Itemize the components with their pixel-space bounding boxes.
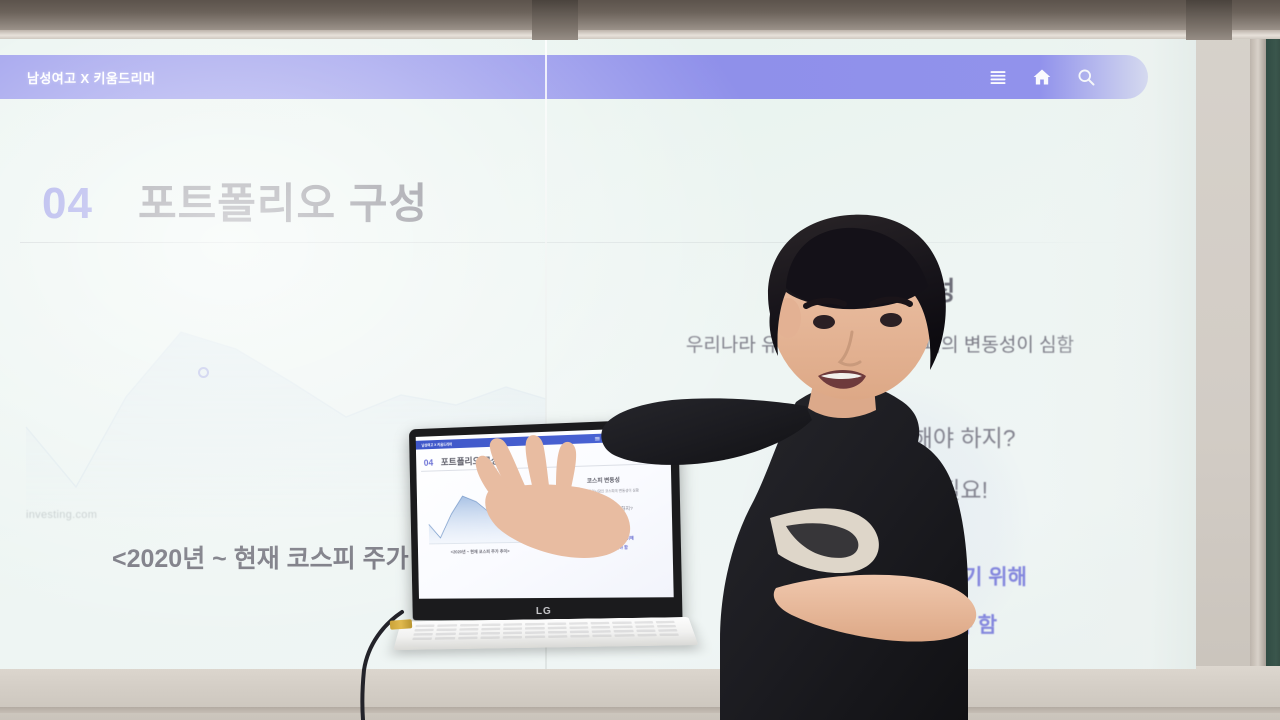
rail-bracket — [1186, 0, 1232, 40]
slide-section-number: 04 — [42, 179, 93, 229]
laptop-power-port — [390, 619, 413, 630]
screenshot-root: 남성여고 X 키움드리머 — [0, 0, 1280, 720]
home-icon[interactable] — [1032, 67, 1052, 87]
chart-marker-dot — [198, 367, 209, 378]
slide-navbar: 남성여고 X 키움드리머 — [0, 55, 1148, 99]
slide-nav-icons — [988, 55, 1096, 99]
ceiling-rail — [0, 0, 1280, 34]
mini-section-number: 04 — [424, 458, 434, 468]
presenter-head — [768, 215, 946, 400]
slide-section-title: 포트폴리오 구성 — [138, 170, 428, 231]
slide-heading: 04 포트폴리오 구성 — [42, 170, 428, 231]
presenter — [600, 210, 1280, 720]
hamburger-menu-icon[interactable] — [988, 67, 1008, 87]
mini-brand-label: 남성여고 X 키움드리머 — [421, 441, 452, 447]
chart-source-watermark: investing.com — [26, 509, 97, 521]
rail-bracket — [532, 0, 578, 40]
slide-brand-label: 남성여고 X 키움드리머 — [27, 68, 155, 87]
ceiling-rail-lip — [0, 30, 1280, 39]
search-icon[interactable] — [1076, 67, 1096, 87]
